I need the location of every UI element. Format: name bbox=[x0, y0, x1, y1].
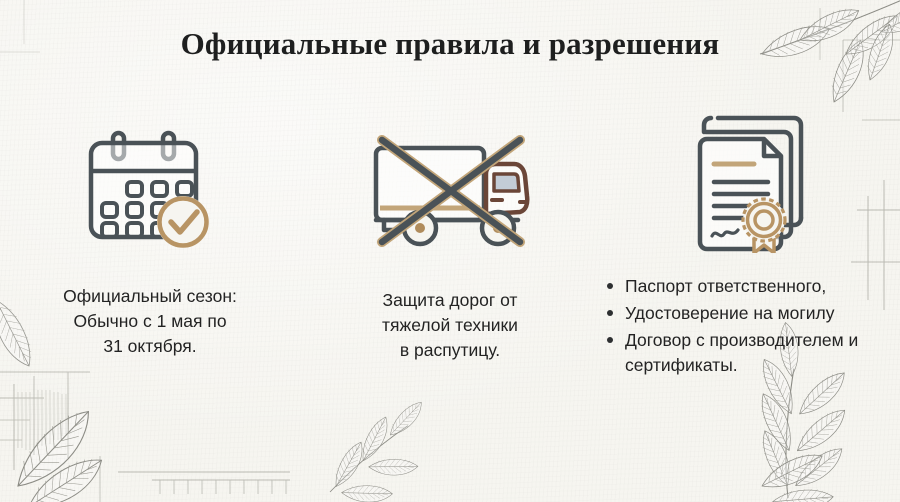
list-item: Удостоверение на могилу bbox=[605, 301, 895, 326]
road-protection-caption: Защита дорог от тяжелой техники в распут… bbox=[343, 288, 558, 363]
road-line-3: в распутицу. bbox=[343, 338, 558, 363]
calendar-check-icon bbox=[85, 128, 215, 253]
page-title: Официальные правила и разрешения bbox=[0, 26, 900, 62]
list-item-label: Удостоверение на могилу bbox=[625, 303, 834, 323]
column-road-protection: Защита дорог от тяжелой техники в распут… bbox=[300, 110, 600, 363]
no-truck-icon-wrap bbox=[368, 110, 533, 264]
slide-root: Официальные правила и разрешения bbox=[0, 0, 900, 502]
bullet-dot-icon bbox=[607, 310, 613, 316]
documents-seal-icon bbox=[688, 108, 813, 253]
bullet-dot-icon bbox=[607, 337, 613, 343]
columns-container: Официальный сезон: Обычно с 1 мая по 31 … bbox=[0, 110, 900, 379]
calendar-check-icon-wrap bbox=[85, 110, 215, 260]
documents-seal-icon-wrap bbox=[688, 110, 813, 250]
season-caption: Официальный сезон: Обычно с 1 мая по 31 … bbox=[35, 284, 265, 359]
slide-content: Официальные правила и разрешения bbox=[0, 0, 900, 502]
column-season: Официальный сезон: Обычно с 1 мая по 31 … bbox=[0, 110, 300, 359]
bullet-dot-icon bbox=[607, 283, 613, 289]
season-line-3: 31 октября. bbox=[35, 334, 265, 359]
list-item-label: Договор с производителем и сертификаты. bbox=[625, 330, 858, 375]
column-documents: Паспорт ответственного, Удостоверение на… bbox=[600, 110, 900, 379]
season-line-1: Официальный сезон: bbox=[35, 284, 265, 309]
list-item: Паспорт ответственного, bbox=[605, 274, 895, 299]
no-truck-icon bbox=[368, 134, 533, 254]
list-item-label: Паспорт ответственного, bbox=[625, 276, 826, 296]
road-line-1: Защита дорог от bbox=[343, 288, 558, 313]
list-item: Договор с производителем и сертификаты. bbox=[605, 328, 895, 378]
road-line-2: тяжелой техники bbox=[343, 313, 558, 338]
documents-bullet-list: Паспорт ответственного, Удостоверение на… bbox=[605, 274, 895, 379]
season-line-2: Обычно с 1 мая по bbox=[35, 309, 265, 334]
